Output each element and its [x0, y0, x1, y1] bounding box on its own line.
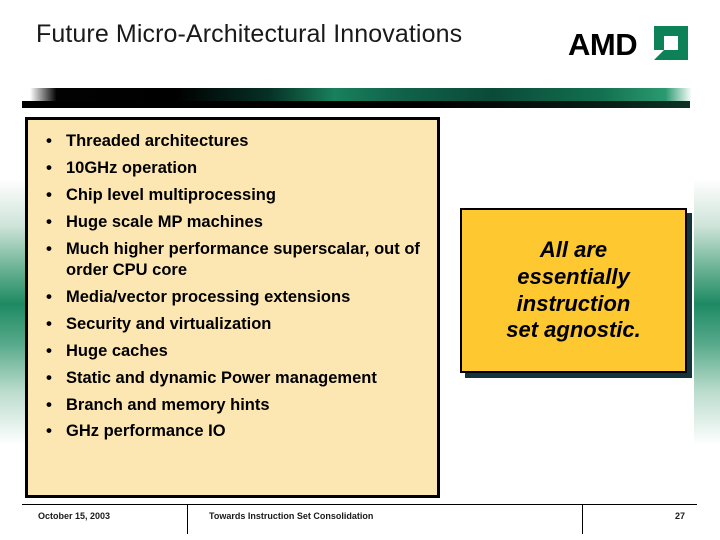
footer-title: Towards Instruction Set Consolidation: [209, 511, 373, 521]
list-item: Branch and memory hints: [44, 395, 429, 416]
list-item: Huge caches: [44, 341, 429, 362]
list-item: Huge scale MP machines: [44, 212, 429, 233]
callout-text: All are essentially instruction set agno…: [498, 237, 648, 344]
header-bar-shadow: [22, 101, 690, 108]
footer-divider: [582, 505, 583, 534]
right-gradient-strip: [694, 108, 720, 500]
amd-arrow-icon: [654, 26, 688, 65]
list-item: Security and virtualization: [44, 314, 429, 335]
footer-date: October 15, 2003: [38, 511, 110, 521]
amd-wordmark: AMD: [568, 27, 637, 63]
slide-canvas: Future Micro-Architectural Innovations A…: [0, 0, 720, 540]
list-item: GHz performance IO: [44, 421, 429, 442]
list-item: Media/vector processing extensions: [44, 287, 429, 308]
footer-page-number: 27: [675, 511, 685, 521]
list-item: Threaded architectures: [44, 131, 429, 152]
footer-divider: [187, 505, 188, 534]
bullet-panel: Threaded architectures 10GHz operation C…: [25, 117, 440, 498]
amd-logo: AMD: [568, 24, 690, 64]
list-item: Chip level multiprocessing: [44, 185, 429, 206]
left-gradient-strip: [0, 108, 26, 500]
header-gradient-bar: [30, 88, 692, 101]
list-item: 10GHz operation: [44, 158, 429, 179]
list-item: Much higher performance superscalar, out…: [44, 239, 429, 281]
bullet-list: Threaded architectures 10GHz operation C…: [28, 120, 437, 442]
footer-rule: [22, 504, 697, 505]
page-title: Future Micro-Architectural Innovations: [36, 20, 462, 49]
callout-box: All are essentially instruction set agno…: [460, 208, 687, 373]
list-item: Static and dynamic Power management: [44, 368, 429, 389]
